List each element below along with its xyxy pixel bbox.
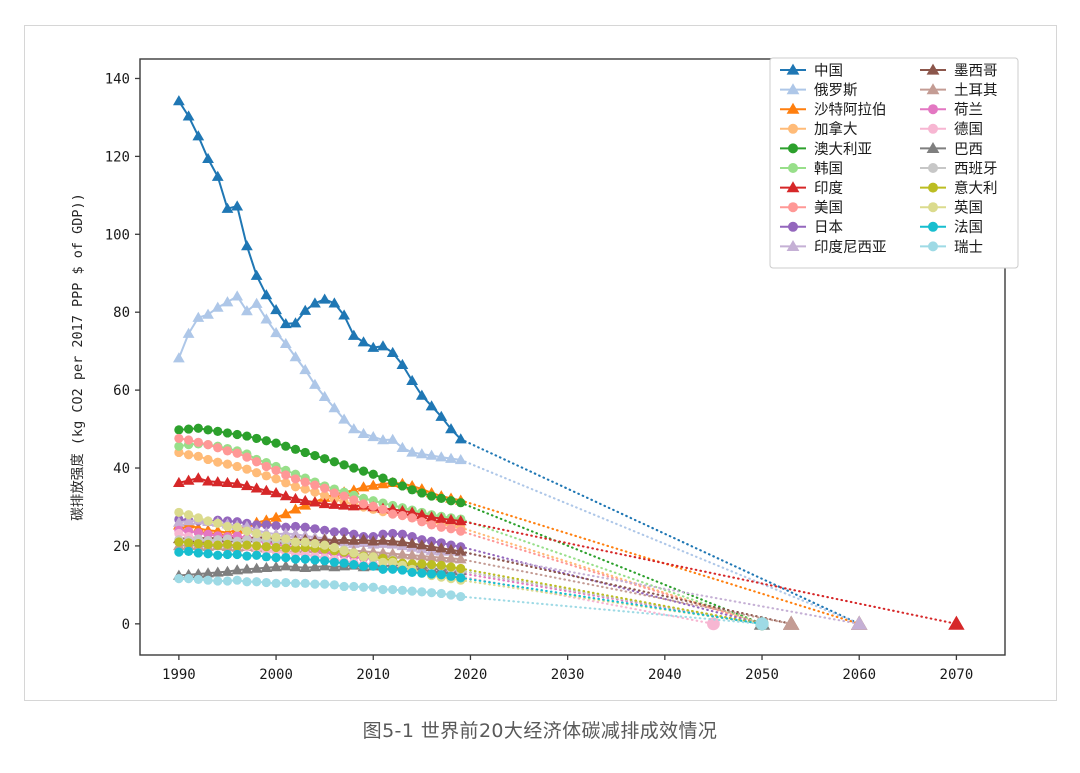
series-projection <box>461 531 762 624</box>
data-marker <box>223 460 232 469</box>
data-marker <box>231 200 243 210</box>
legend-label: 英国 <box>954 199 983 217</box>
data-marker <box>320 580 329 589</box>
data-marker <box>194 424 203 433</box>
data-marker <box>427 569 436 578</box>
data-marker <box>242 577 251 586</box>
data-marker <box>173 95 185 105</box>
series-projection <box>461 460 859 624</box>
data-marker <box>223 446 232 455</box>
legend-label: 土耳其 <box>954 82 998 99</box>
data-marker <box>378 505 387 514</box>
legend-label: 荷兰 <box>954 102 983 119</box>
data-marker <box>174 425 183 434</box>
data-marker <box>437 589 446 598</box>
y-tick-label: 100 <box>105 227 130 243</box>
data-marker <box>194 548 203 557</box>
legend-label: 西班牙 <box>954 160 998 177</box>
legend-label: 加拿大 <box>814 120 858 138</box>
legend-label: 韩国 <box>814 160 843 177</box>
series-projection <box>461 439 859 624</box>
data-marker <box>194 539 203 548</box>
data-marker <box>928 241 938 251</box>
data-marker <box>223 522 232 531</box>
data-marker <box>202 309 214 319</box>
data-marker <box>262 531 271 540</box>
data-marker <box>291 537 300 546</box>
legend-label: 沙特阿拉伯 <box>814 102 887 119</box>
data-marker <box>408 587 417 596</box>
data-marker <box>252 577 261 586</box>
data-marker <box>369 583 378 592</box>
legend-label: 法国 <box>954 219 983 236</box>
x-tick-label: 2070 <box>940 667 974 683</box>
data-marker <box>310 539 319 548</box>
x-tick-label: 2050 <box>745 667 779 683</box>
data-marker <box>398 586 407 595</box>
data-marker <box>251 270 263 280</box>
data-marker <box>184 538 193 547</box>
data-marker <box>213 541 222 550</box>
data-marker <box>242 453 251 462</box>
data-marker <box>398 481 407 490</box>
legend-label: 美国 <box>814 200 843 217</box>
data-marker <box>349 582 358 591</box>
data-marker <box>320 484 329 493</box>
data-marker <box>417 517 426 526</box>
data-marker <box>378 474 387 483</box>
data-marker <box>260 313 272 323</box>
data-marker <box>320 454 329 463</box>
data-marker <box>330 457 339 466</box>
data-marker <box>270 304 282 314</box>
data-marker <box>369 470 378 479</box>
data-marker <box>192 130 204 140</box>
series-印度尼西亚 <box>173 514 867 629</box>
data-marker <box>262 542 271 551</box>
data-marker <box>330 580 339 589</box>
data-marker <box>252 551 261 560</box>
data-marker <box>310 555 319 564</box>
data-marker <box>203 540 212 549</box>
data-marker <box>456 573 465 582</box>
data-marker <box>194 452 203 461</box>
data-marker <box>427 491 436 500</box>
data-marker <box>340 491 349 500</box>
data-marker <box>388 565 397 574</box>
data-marker <box>213 519 222 528</box>
data-marker <box>330 488 339 497</box>
data-marker <box>349 560 358 569</box>
x-tick-label: 2010 <box>356 667 390 683</box>
data-marker <box>233 550 242 559</box>
data-marker <box>281 544 290 553</box>
data-marker <box>223 540 232 549</box>
data-marker <box>928 163 938 173</box>
data-marker <box>456 564 465 573</box>
data-marker <box>320 541 329 550</box>
data-marker <box>928 124 938 134</box>
series-projection <box>461 519 762 624</box>
data-marker <box>310 580 319 589</box>
data-marker <box>788 202 798 212</box>
data-marker <box>388 509 397 518</box>
data-marker <box>213 443 222 452</box>
legend-label: 巴西 <box>954 142 983 158</box>
y-axis-label: 碳排放强度 (kg CO2 per 2017 PPP $ of GDP)) <box>70 193 86 521</box>
data-marker <box>194 513 203 522</box>
data-marker <box>222 296 234 306</box>
y-tick-label: 60 <box>113 383 130 399</box>
data-marker <box>203 516 212 525</box>
data-marker <box>387 347 399 357</box>
data-marker <box>203 576 212 585</box>
data-marker <box>291 445 300 454</box>
data-marker <box>203 425 212 434</box>
data-marker <box>184 424 193 433</box>
data-marker <box>262 462 271 471</box>
data-marker <box>928 104 938 114</box>
series-projection <box>461 528 762 624</box>
data-marker <box>359 583 368 592</box>
data-marker <box>456 527 465 536</box>
data-marker <box>427 520 436 529</box>
data-marker <box>309 379 321 389</box>
data-marker <box>340 582 349 591</box>
data-marker <box>446 496 455 505</box>
x-tick-label: 2040 <box>648 667 682 683</box>
legend: 中国俄罗斯沙特阿拉伯加拿大澳大利亚韩国印度美国日本印度尼西亚墨西哥土耳其荷兰德国… <box>770 58 1018 268</box>
data-marker <box>262 471 271 480</box>
data-marker <box>174 508 183 517</box>
data-marker <box>788 222 798 232</box>
data-marker <box>174 434 183 443</box>
data-marker <box>349 463 358 472</box>
data-marker <box>427 560 436 569</box>
legend-label: 意大利 <box>954 179 998 197</box>
data-marker <box>271 466 280 475</box>
data-marker <box>203 549 212 558</box>
data-marker <box>756 617 769 630</box>
data-marker <box>233 576 242 585</box>
data-marker <box>281 470 290 479</box>
data-marker <box>359 467 368 476</box>
x-tick-label: 2030 <box>551 667 585 683</box>
data-marker <box>281 442 290 451</box>
data-marker <box>233 541 242 550</box>
legend-label: 墨西哥 <box>954 63 998 79</box>
series-俄罗斯 <box>173 290 867 629</box>
data-marker <box>271 533 280 542</box>
y-tick-label: 20 <box>113 539 130 555</box>
data-marker <box>398 511 407 520</box>
data-marker <box>359 562 368 571</box>
data-marker <box>437 570 446 579</box>
data-marker <box>330 558 339 567</box>
data-marker <box>174 574 183 583</box>
chart-svg: 0204060801001201401990200020102020203020… <box>0 0 1080 705</box>
data-marker <box>417 488 426 497</box>
data-marker <box>369 552 378 561</box>
data-marker <box>388 477 397 486</box>
data-marker <box>194 438 203 447</box>
data-marker <box>233 523 242 532</box>
data-marker <box>928 183 938 193</box>
data-marker <box>348 330 360 340</box>
figure-caption: 图5-1 世界前20大经济体碳减排成效情况 <box>0 716 1080 743</box>
data-marker <box>242 465 251 474</box>
data-marker <box>213 551 222 560</box>
data-marker <box>281 553 290 562</box>
data-marker <box>301 477 310 486</box>
x-tick-label: 2020 <box>454 667 488 683</box>
data-marker <box>369 562 378 571</box>
data-marker <box>213 576 222 585</box>
data-marker <box>310 481 319 490</box>
data-marker <box>262 436 271 445</box>
series-法国 <box>174 547 768 630</box>
data-marker <box>301 555 310 564</box>
data-marker <box>456 592 465 601</box>
data-marker <box>173 352 185 362</box>
data-marker <box>281 534 290 543</box>
data-marker <box>252 457 261 466</box>
legend-label: 德国 <box>954 121 983 138</box>
data-marker <box>437 523 446 532</box>
data-marker <box>340 460 349 469</box>
data-marker <box>378 585 387 594</box>
chart-figure: 0204060801001201401990200020102020203020… <box>0 0 1080 705</box>
data-marker <box>928 222 938 232</box>
legend-label: 中国 <box>814 62 843 79</box>
legend-label: 瑞士 <box>954 239 983 256</box>
data-marker <box>359 499 368 508</box>
data-marker <box>416 390 428 400</box>
data-marker <box>271 474 280 483</box>
data-marker <box>260 289 272 299</box>
data-marker <box>417 559 426 568</box>
data-marker <box>252 529 261 538</box>
data-marker <box>281 578 290 587</box>
data-marker <box>183 110 195 120</box>
legend-label: 日本 <box>814 219 843 236</box>
data-marker <box>349 495 358 504</box>
data-marker <box>788 124 798 134</box>
data-marker <box>446 524 455 533</box>
data-marker <box>174 548 183 557</box>
legend-label: 印度 <box>814 180 843 197</box>
data-marker <box>223 550 232 559</box>
data-marker <box>184 547 193 556</box>
data-marker <box>213 458 222 467</box>
data-marker <box>203 455 212 464</box>
data-marker <box>241 240 253 250</box>
data-marker <box>262 578 271 587</box>
data-marker <box>202 153 214 163</box>
data-marker <box>233 449 242 458</box>
data-marker <box>262 552 271 561</box>
data-marker <box>446 572 455 581</box>
data-marker <box>408 485 417 494</box>
data-marker <box>446 590 455 599</box>
data-marker <box>231 290 243 300</box>
data-marker <box>242 551 251 560</box>
data-marker <box>271 553 280 562</box>
data-marker <box>358 336 370 346</box>
data-marker <box>427 588 436 597</box>
legend-label: 印度尼西亚 <box>814 239 887 256</box>
data-marker <box>223 428 232 437</box>
x-tick-label: 2000 <box>259 667 293 683</box>
data-marker <box>437 561 446 570</box>
data-marker <box>184 450 193 459</box>
data-marker <box>183 328 195 338</box>
data-marker <box>271 579 280 588</box>
data-marker <box>242 527 251 536</box>
data-marker <box>184 435 193 444</box>
data-marker <box>291 474 300 483</box>
data-marker <box>291 579 300 588</box>
series-line <box>179 296 461 460</box>
data-marker <box>252 468 261 477</box>
data-marker <box>377 340 389 350</box>
data-marker <box>184 510 193 519</box>
data-marker <box>369 502 378 511</box>
data-marker <box>320 556 329 565</box>
data-marker <box>446 562 455 571</box>
data-marker <box>192 472 204 482</box>
data-marker <box>291 555 300 564</box>
data-marker <box>388 585 397 594</box>
data-marker <box>417 569 426 578</box>
data-marker <box>340 558 349 567</box>
data-marker <box>242 541 251 550</box>
data-marker <box>310 451 319 460</box>
data-marker <box>223 576 232 585</box>
data-marker <box>301 579 310 588</box>
data-marker <box>437 494 446 503</box>
y-tick-label: 80 <box>113 305 130 321</box>
data-marker <box>338 534 350 544</box>
data-marker <box>417 587 426 596</box>
data-marker <box>359 552 368 561</box>
data-marker <box>406 375 418 385</box>
page-root: 0204060801001201401990200020102020203020… <box>0 0 1080 773</box>
y-tick-label: 120 <box>105 149 130 165</box>
data-marker <box>271 438 280 447</box>
data-marker <box>928 202 938 212</box>
y-tick-label: 40 <box>113 461 130 477</box>
data-marker <box>174 537 183 546</box>
data-marker <box>408 568 417 577</box>
y-tick-label: 0 <box>122 617 130 633</box>
data-marker <box>319 293 331 303</box>
x-tick-label: 1990 <box>162 667 196 683</box>
data-marker <box>252 434 261 443</box>
data-marker <box>233 462 242 471</box>
y-tick-label: 140 <box>105 71 130 87</box>
data-marker <box>301 537 310 546</box>
data-marker <box>212 302 224 312</box>
data-marker <box>233 430 242 439</box>
data-marker <box>398 565 407 574</box>
x-tick-label: 2060 <box>842 667 876 683</box>
legend-label: 澳大利亚 <box>814 141 872 158</box>
data-marker <box>271 543 280 552</box>
data-marker <box>212 171 224 181</box>
data-marker <box>788 143 798 153</box>
data-marker <box>330 543 339 552</box>
data-marker <box>340 546 349 555</box>
data-marker <box>788 163 798 173</box>
data-marker <box>301 448 310 457</box>
data-marker <box>408 513 417 522</box>
legend-label: 俄罗斯 <box>814 82 858 99</box>
data-marker <box>213 427 222 436</box>
data-marker <box>184 574 193 583</box>
data-marker <box>242 431 251 440</box>
data-marker <box>349 548 358 557</box>
data-marker <box>203 440 212 449</box>
data-marker <box>252 541 261 550</box>
data-marker <box>456 498 465 507</box>
data-marker <box>194 575 203 584</box>
data-marker <box>378 565 387 574</box>
